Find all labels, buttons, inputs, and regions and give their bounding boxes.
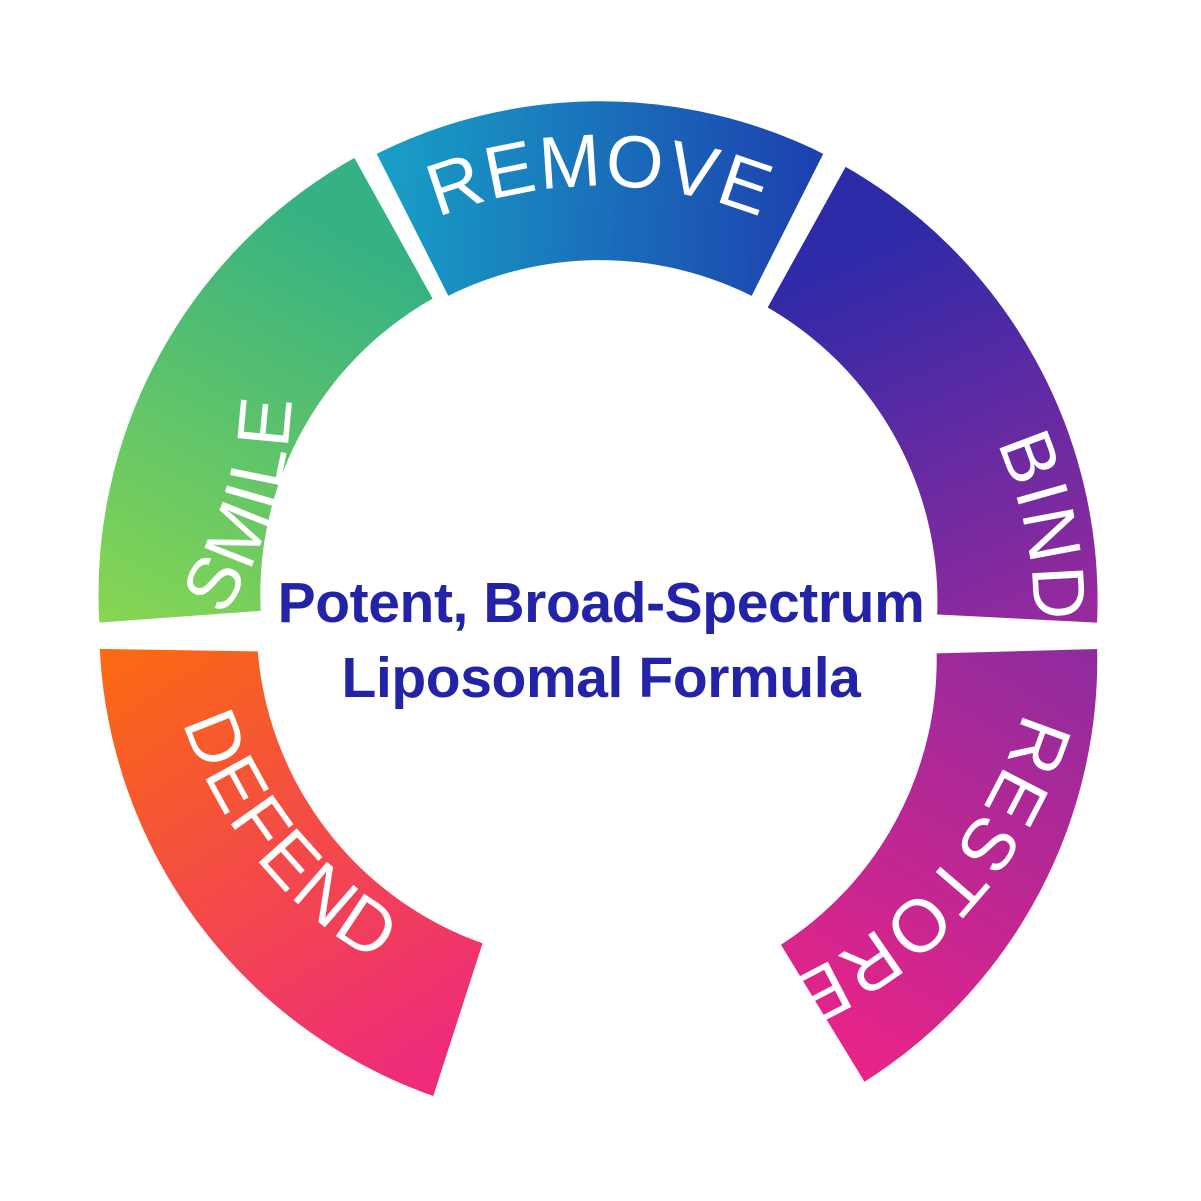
segment-bind[interactable]: BIND — [762, 161, 1102, 628]
segment-remove[interactable]: REMOVE — [371, 97, 830, 302]
process-ring-chart: REMOVE BIND RESTORE DEF — [0, 0, 1201, 1201]
segment-defend[interactable]: DEFEND — [95, 644, 488, 1101]
ring-segments: REMOVE BIND RESTORE DEF — [94, 97, 1102, 1102]
segment-restore[interactable]: RESTORE — [775, 644, 1102, 1088]
infographic-root: REMOVE BIND RESTORE DEF — [0, 0, 1201, 1201]
segment-smile[interactable]: SMILE — [94, 152, 439, 628]
